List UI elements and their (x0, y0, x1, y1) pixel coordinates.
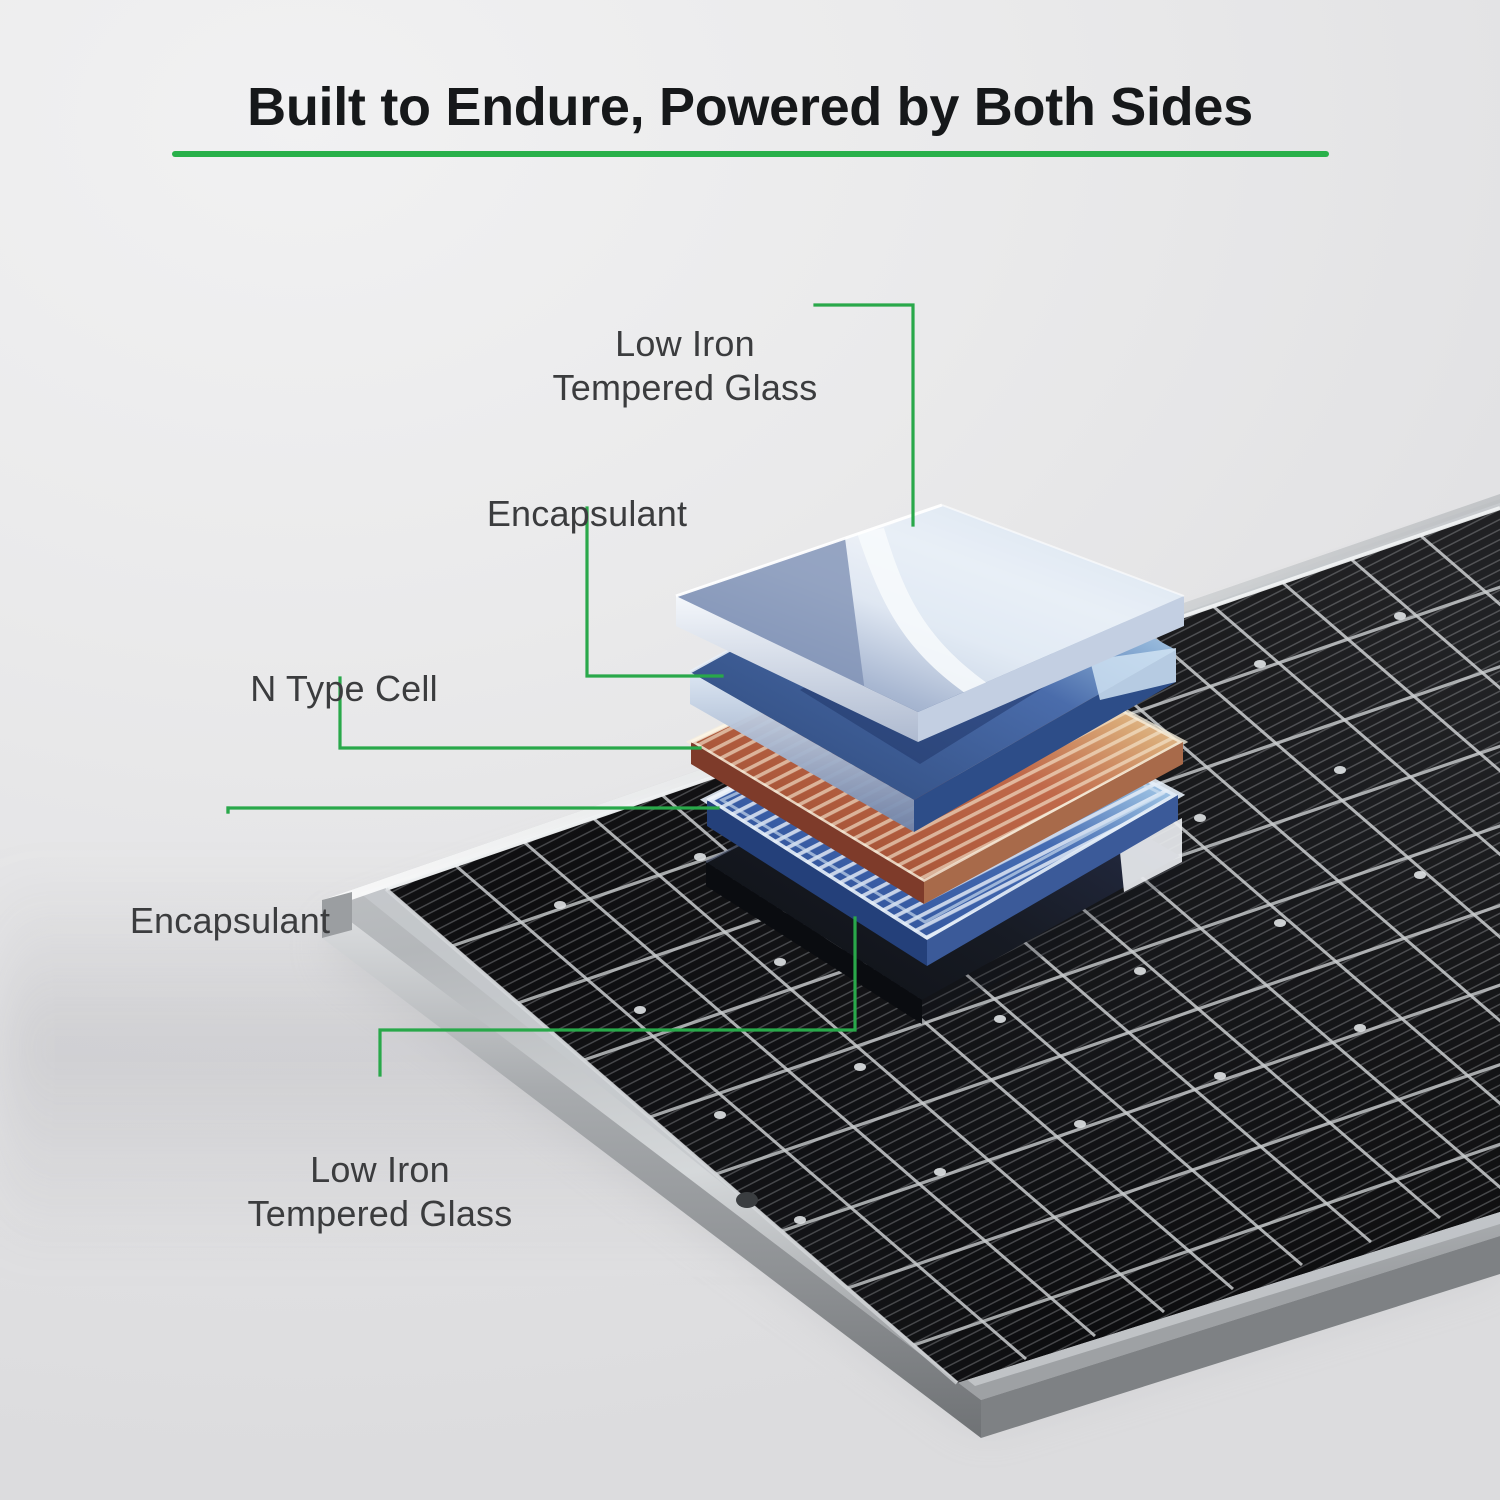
label-text: N Type Cell (250, 668, 438, 709)
label-n-type-cell: N Type Cell (94, 623, 594, 711)
label-low-iron-tempered-glass-top: Low Iron Tempered Glass (425, 278, 945, 410)
title-underline (172, 151, 1329, 157)
leader-lines (0, 0, 1500, 1500)
page-title: Built to Endure, Powered by Both Sides (0, 78, 1500, 137)
diagram-canvas: Built to Endure, Powered by Both Sides L… (0, 0, 1500, 1500)
label-encapsulant-top: Encapsulant (337, 448, 837, 536)
label-low-iron-tempered-glass-bottom: Low Iron Tempered Glass (120, 1104, 640, 1236)
label-text: Encapsulant (130, 900, 330, 941)
leader-rear-encapsulant (228, 808, 718, 812)
label-text: Encapsulant (487, 493, 687, 534)
page-title-block: Built to Endure, Powered by Both Sides (0, 78, 1500, 157)
label-text: Low Iron Tempered Glass (248, 1149, 513, 1234)
label-text: Low Iron Tempered Glass (553, 323, 818, 408)
label-encapsulant-bottom: Encapsulant (0, 855, 460, 943)
